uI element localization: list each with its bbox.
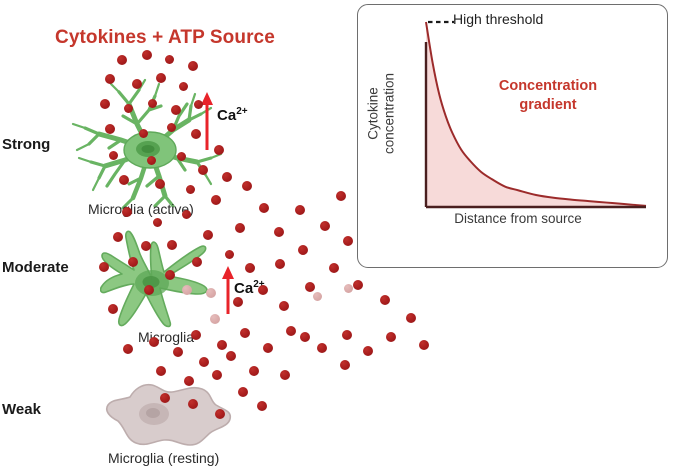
cytokine-dot — [191, 129, 201, 139]
cytokine-dot — [186, 185, 195, 194]
chart-plot-area — [358, 5, 669, 269]
cytokine-dot — [171, 105, 181, 115]
cytokine-dot — [263, 343, 273, 353]
cytokine-dot — [203, 230, 213, 240]
cytokine-dot — [148, 99, 157, 108]
cytokine-dot — [317, 343, 327, 353]
cytokine-dot — [275, 259, 285, 269]
cytokine-dot — [182, 210, 191, 219]
cytokine-dot — [212, 370, 222, 380]
calcium-label-middle-text: Ca — [234, 280, 253, 297]
cytokine-dot — [149, 337, 159, 347]
cytokine-dot — [141, 241, 151, 251]
cytokine-dot — [343, 236, 353, 246]
cytokine-dot — [184, 376, 194, 386]
cytokine-dot — [105, 124, 115, 134]
cytokine-dot — [300, 332, 310, 342]
cytokine-dot — [100, 99, 110, 109]
cytokine-dot — [109, 151, 118, 160]
cytokine-dot — [240, 328, 250, 338]
chart-area-fill — [426, 22, 646, 207]
cytokine-dot — [191, 330, 201, 340]
cytokine-dot — [336, 191, 346, 201]
cytokine-dot — [99, 262, 109, 272]
cytokine-dot — [139, 129, 148, 138]
cytokine-dot — [124, 104, 133, 113]
cytokine-dot — [214, 145, 224, 155]
cytokine-dot — [386, 332, 396, 342]
cytokine-dot — [245, 263, 255, 273]
calcium-label-top: Ca2+ — [217, 106, 248, 124]
caption-microglia-active: Microglia (active) — [88, 201, 194, 217]
chart-y-axis-label: Cytokine concentration — [366, 58, 399, 168]
calcium-label-top-sup: 2+ — [236, 106, 247, 117]
cytokine-dot — [156, 366, 166, 376]
cytokine-dot — [132, 79, 142, 89]
cytokine-dot — [340, 360, 350, 370]
chart-x-axis-label: Distance from source — [418, 211, 618, 228]
cytokine-dot — [242, 181, 252, 191]
cytokine-dot — [165, 55, 174, 64]
cytokine-dot — [280, 370, 290, 380]
cytokine-dot — [155, 179, 165, 189]
cytokine-dot — [122, 207, 132, 217]
cytokine-dot — [257, 401, 267, 411]
cytokine-dot — [295, 205, 305, 215]
cytokine-dot — [142, 50, 152, 60]
cytokine-dot — [194, 100, 203, 109]
cytokine-dot — [342, 330, 352, 340]
cytokine-dot — [160, 393, 170, 403]
cytokine-dot — [406, 313, 416, 323]
cytokine-dot — [233, 297, 243, 307]
cytokine-dot — [173, 347, 183, 357]
cytokine-dot — [211, 195, 221, 205]
cytokine-dot — [144, 285, 154, 295]
cytokine-dot — [188, 399, 198, 409]
caption-microglia: Microglia — [138, 329, 194, 345]
concentration-gradient-chart: High threshold Concentration gradient Cy… — [357, 4, 668, 268]
cytokine-dot — [286, 326, 296, 336]
cytokine-dot — [113, 232, 123, 242]
cytokine-dot — [123, 344, 133, 354]
cytokine-dot — [344, 284, 353, 293]
cytokine-dot — [217, 340, 227, 350]
cytokine-dot — [179, 82, 188, 91]
cytokine-dot — [226, 351, 236, 361]
intensity-label-strong: Strong — [2, 136, 50, 153]
cytokine-dot — [119, 175, 129, 185]
cytokine-dot — [177, 152, 186, 161]
cytokine-dot — [225, 250, 234, 259]
cytokine-dot — [419, 340, 429, 350]
cytokine-dot — [298, 245, 308, 255]
chart-threshold-label: High threshold — [453, 11, 543, 27]
cytokine-dot — [147, 156, 156, 165]
cytokine-dot — [353, 280, 363, 290]
cytokine-dot — [320, 221, 330, 231]
intensity-label-moderate: Moderate — [2, 259, 69, 276]
cytokine-dot — [259, 203, 269, 213]
cytokine-dot — [215, 409, 225, 419]
cytokine-dot — [206, 288, 216, 298]
cytokine-dot — [105, 74, 115, 84]
cytokine-dot — [380, 295, 390, 305]
page-title: Cytokines + ATP Source — [55, 27, 275, 49]
diagram-canvas: Cytokines + ATP Source Strong Moderate W… — [0, 0, 677, 469]
cytokine-dot — [108, 304, 118, 314]
cytokine-dot — [117, 55, 127, 65]
cytokine-dot — [192, 257, 202, 267]
cytokine-dot — [153, 218, 162, 227]
cytokine-dot — [249, 366, 259, 376]
cytokine-dot — [188, 61, 198, 71]
cytokine-dot — [198, 165, 208, 175]
cytokine-dot — [156, 73, 166, 83]
cytokine-dot — [329, 263, 339, 273]
cytokine-dot — [238, 387, 248, 397]
cytokine-dot — [199, 357, 209, 367]
cytokine-dot — [222, 172, 232, 182]
cytokine-dot — [279, 301, 289, 311]
cytokine-dot — [128, 257, 138, 267]
intensity-label-weak: Weak — [2, 401, 41, 418]
cytokine-dot — [363, 346, 373, 356]
caption-microglia-resting: Microglia (resting) — [108, 450, 219, 466]
cytokine-dot — [313, 292, 322, 301]
chart-gradient-annotation: Concentration gradient — [480, 77, 616, 114]
cytokine-dot — [210, 314, 220, 324]
cytokine-dot — [274, 227, 284, 237]
cytokine-dot — [167, 123, 176, 132]
cytokine-dot — [167, 240, 177, 250]
cytokine-dot — [258, 285, 268, 295]
cytokine-dot — [235, 223, 245, 233]
cytokine-dot — [182, 285, 192, 295]
cytokine-dot — [305, 282, 315, 292]
cytokine-dot — [165, 270, 175, 280]
calcium-label-top-text: Ca — [217, 107, 236, 124]
